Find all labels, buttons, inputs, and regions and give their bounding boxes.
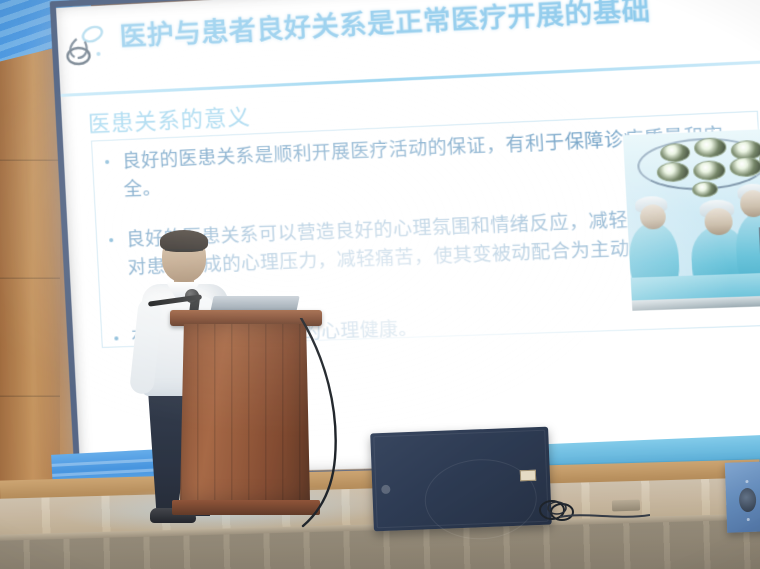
slide-title: 医护与患者良好关系是正常医疗开展的基础 [119, 0, 760, 53]
eyeglasses-icon [165, 249, 203, 258]
speaker-cone-icon [739, 488, 757, 513]
slide-header: 医护与患者良好关系是正常医疗开展的基础 [56, 0, 760, 104]
stethoscope-logo-icon [62, 23, 116, 70]
bullet-dot-icon [114, 336, 118, 340]
stage-floor-object [612, 500, 640, 512]
podium-body [180, 324, 310, 502]
left-wall-panel [0, 45, 60, 515]
title-underline [60, 59, 760, 97]
power-cable [295, 318, 365, 528]
bullet-dot-icon [105, 160, 109, 164]
slide-subtitle: 医患关系的意义 [87, 99, 251, 139]
stage-floor-outlet [520, 470, 536, 482]
lecture-hall-photo: 医护与患者良好关系是正常医疗开展的基础 医患关系的意义 良好的医患关系是顺利开展… [0, 0, 760, 569]
bullet-dot-icon [109, 238, 113, 242]
operating-light [729, 156, 760, 177]
blue-loudspeaker-cabinet [725, 461, 760, 533]
surgeon-head [740, 190, 760, 218]
surgical-team-photo [623, 128, 760, 310]
operating-light [692, 181, 719, 198]
